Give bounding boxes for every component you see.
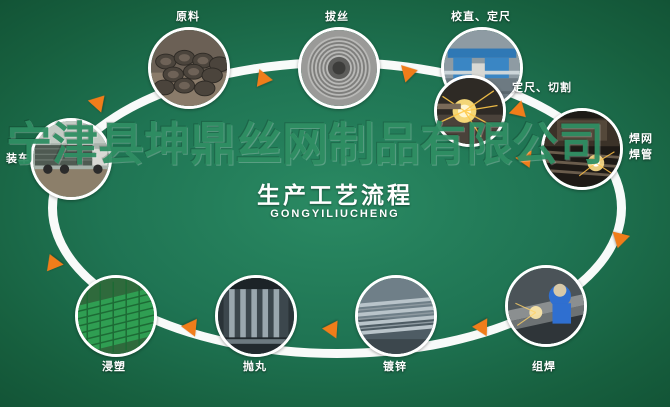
wire-coil-icon: [301, 30, 377, 106]
arrow-blasting-to-dip: [180, 317, 197, 336]
flow-diagram: 生产工艺流程 GONGYILIUCHENG: [0, 0, 670, 407]
photo-assembly-welding: [505, 265, 587, 347]
shot-blasting-machine-icon: [218, 278, 294, 354]
caption-galvanizing: 镀锌: [383, 358, 407, 374]
caption-welding-pipe: 焊管: [629, 146, 653, 162]
arrow-raw-to-drawing: [257, 69, 274, 89]
photo-shot-blasting: [215, 275, 297, 357]
photo-wire-drawing: [298, 27, 380, 109]
arrow-dip-to-loading: [41, 251, 63, 272]
photo-raw-material: [148, 27, 230, 109]
photo-galvanizing: [355, 275, 437, 357]
arrow-assembly-to-galvanizing: [472, 318, 488, 337]
assembly-welding-worker-icon: [508, 268, 584, 344]
caption-shot-blasting: 抛丸: [243, 358, 267, 374]
galvanizing-tank-icon: [358, 278, 434, 354]
caption-cutting: 定尺、切割: [512, 79, 572, 95]
caption-dip-coating: 浸塑: [102, 358, 126, 374]
watermark-company-name: 宁津县坤鼎丝网制品有限公司: [6, 108, 604, 174]
caption-welding-mesh: 焊网: [629, 130, 653, 146]
caption-wire-drawing: 拔丝: [325, 8, 349, 24]
caption-assembly-welding: 组焊: [532, 358, 556, 374]
green-coated-mesh-icon: [78, 278, 154, 354]
page-subtitle: GONGYILIUCHENG: [0, 208, 670, 220]
caption-straighten: 校直、定尺: [451, 8, 511, 24]
arrow-galvanizing-to-blasting: [321, 319, 337, 338]
steel-pipes-stack-icon: [151, 30, 227, 106]
caption-raw-material: 原料: [176, 8, 200, 24]
photo-dip-coating: [75, 275, 157, 357]
